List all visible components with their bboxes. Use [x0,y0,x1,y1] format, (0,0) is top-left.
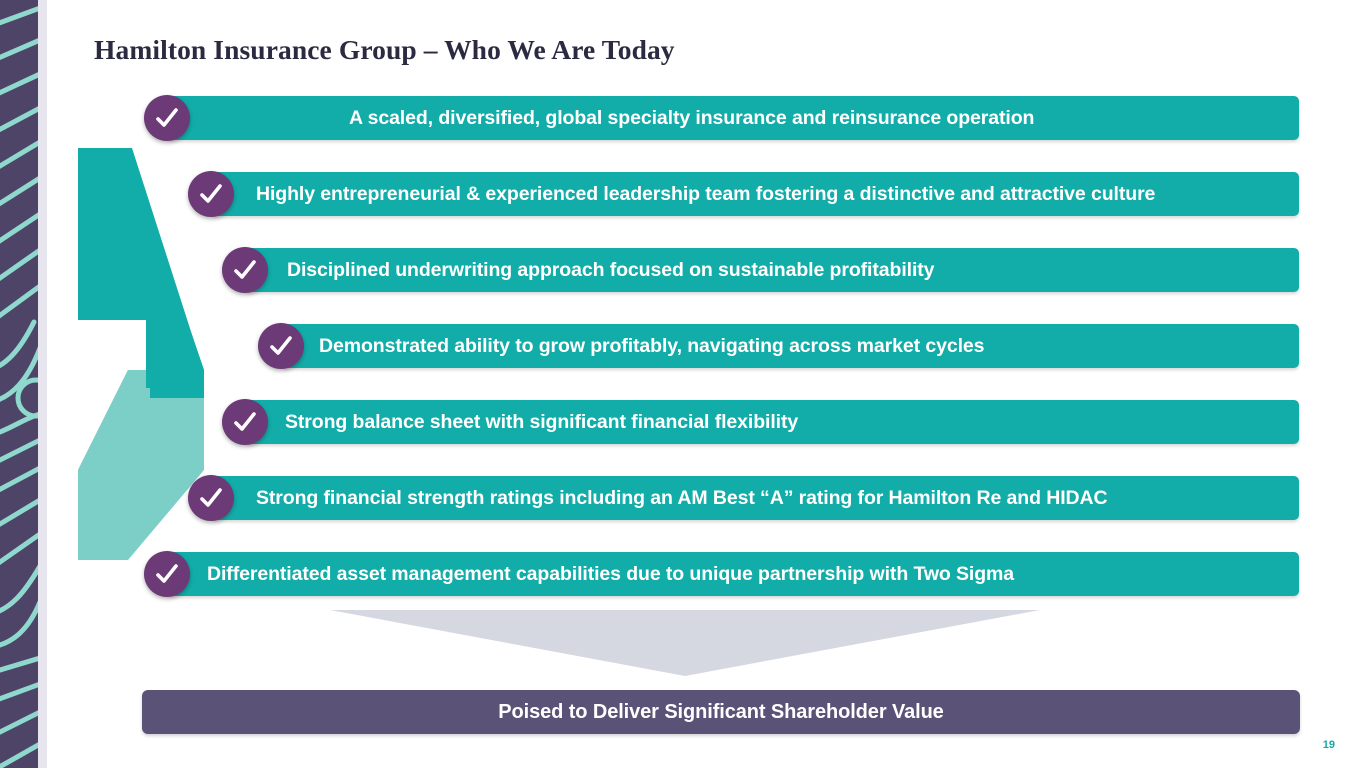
bullet-bar-1[interactable]: A scaled, diversified, global specialty … [167,96,1299,140]
slide-canvas: Hamilton Insurance Group – Who We Are To… [0,0,1365,768]
bullet-bar-3[interactable]: Disciplined underwriting approach focuse… [245,248,1299,292]
bullet-label-1: A scaled, diversified, global specialty … [349,107,1034,130]
bullet-bar-5[interactable]: Strong balance sheet with significant fi… [245,400,1299,444]
bullet-row-7[interactable]: Differentiated asset management capabili… [144,552,1299,596]
bullet-label-5: Strong balance sheet with significant fi… [285,411,798,434]
page-number: 19 [1323,739,1335,751]
check-icon [222,247,268,293]
check-icon [144,95,190,141]
bullet-row-5[interactable]: Strong balance sheet with significant fi… [222,400,1299,444]
check-icon [188,475,234,521]
check-icon [258,323,304,369]
bullet-label-3: Disciplined underwriting approach focuse… [287,259,934,282]
summary-banner[interactable]: Poised to Deliver Significant Shareholde… [142,690,1300,734]
check-icon [144,551,190,597]
bullet-bar-7[interactable]: Differentiated asset management capabili… [167,552,1299,596]
bullet-row-3[interactable]: Disciplined underwriting approach focuse… [222,248,1299,292]
bullet-row-1[interactable]: A scaled, diversified, global specialty … [144,96,1299,140]
bullet-label-4: Demonstrated ability to grow profitably,… [319,335,984,358]
bullet-rows: A scaled, diversified, global specialty … [0,0,1365,768]
check-icon [222,399,268,445]
bullet-row-2[interactable]: Highly entrepreneurial & experienced lea… [188,172,1299,216]
check-icon [188,171,234,217]
bullet-bar-6[interactable]: Strong financial strength ratings includ… [211,476,1299,520]
summary-banner-text: Poised to Deliver Significant Shareholde… [498,701,943,724]
bullet-label-2: Highly entrepreneurial & experienced lea… [256,183,1155,206]
bullet-label-7: Differentiated asset management capabili… [207,563,1014,586]
bullet-label-6: Strong financial strength ratings includ… [256,487,1107,510]
bullet-bar-4[interactable]: Demonstrated ability to grow profitably,… [281,324,1299,368]
bullet-row-6[interactable]: Strong financial strength ratings includ… [188,476,1299,520]
bullet-bar-2[interactable]: Highly entrepreneurial & experienced lea… [211,172,1299,216]
bullet-row-4[interactable]: Demonstrated ability to grow profitably,… [258,324,1299,368]
